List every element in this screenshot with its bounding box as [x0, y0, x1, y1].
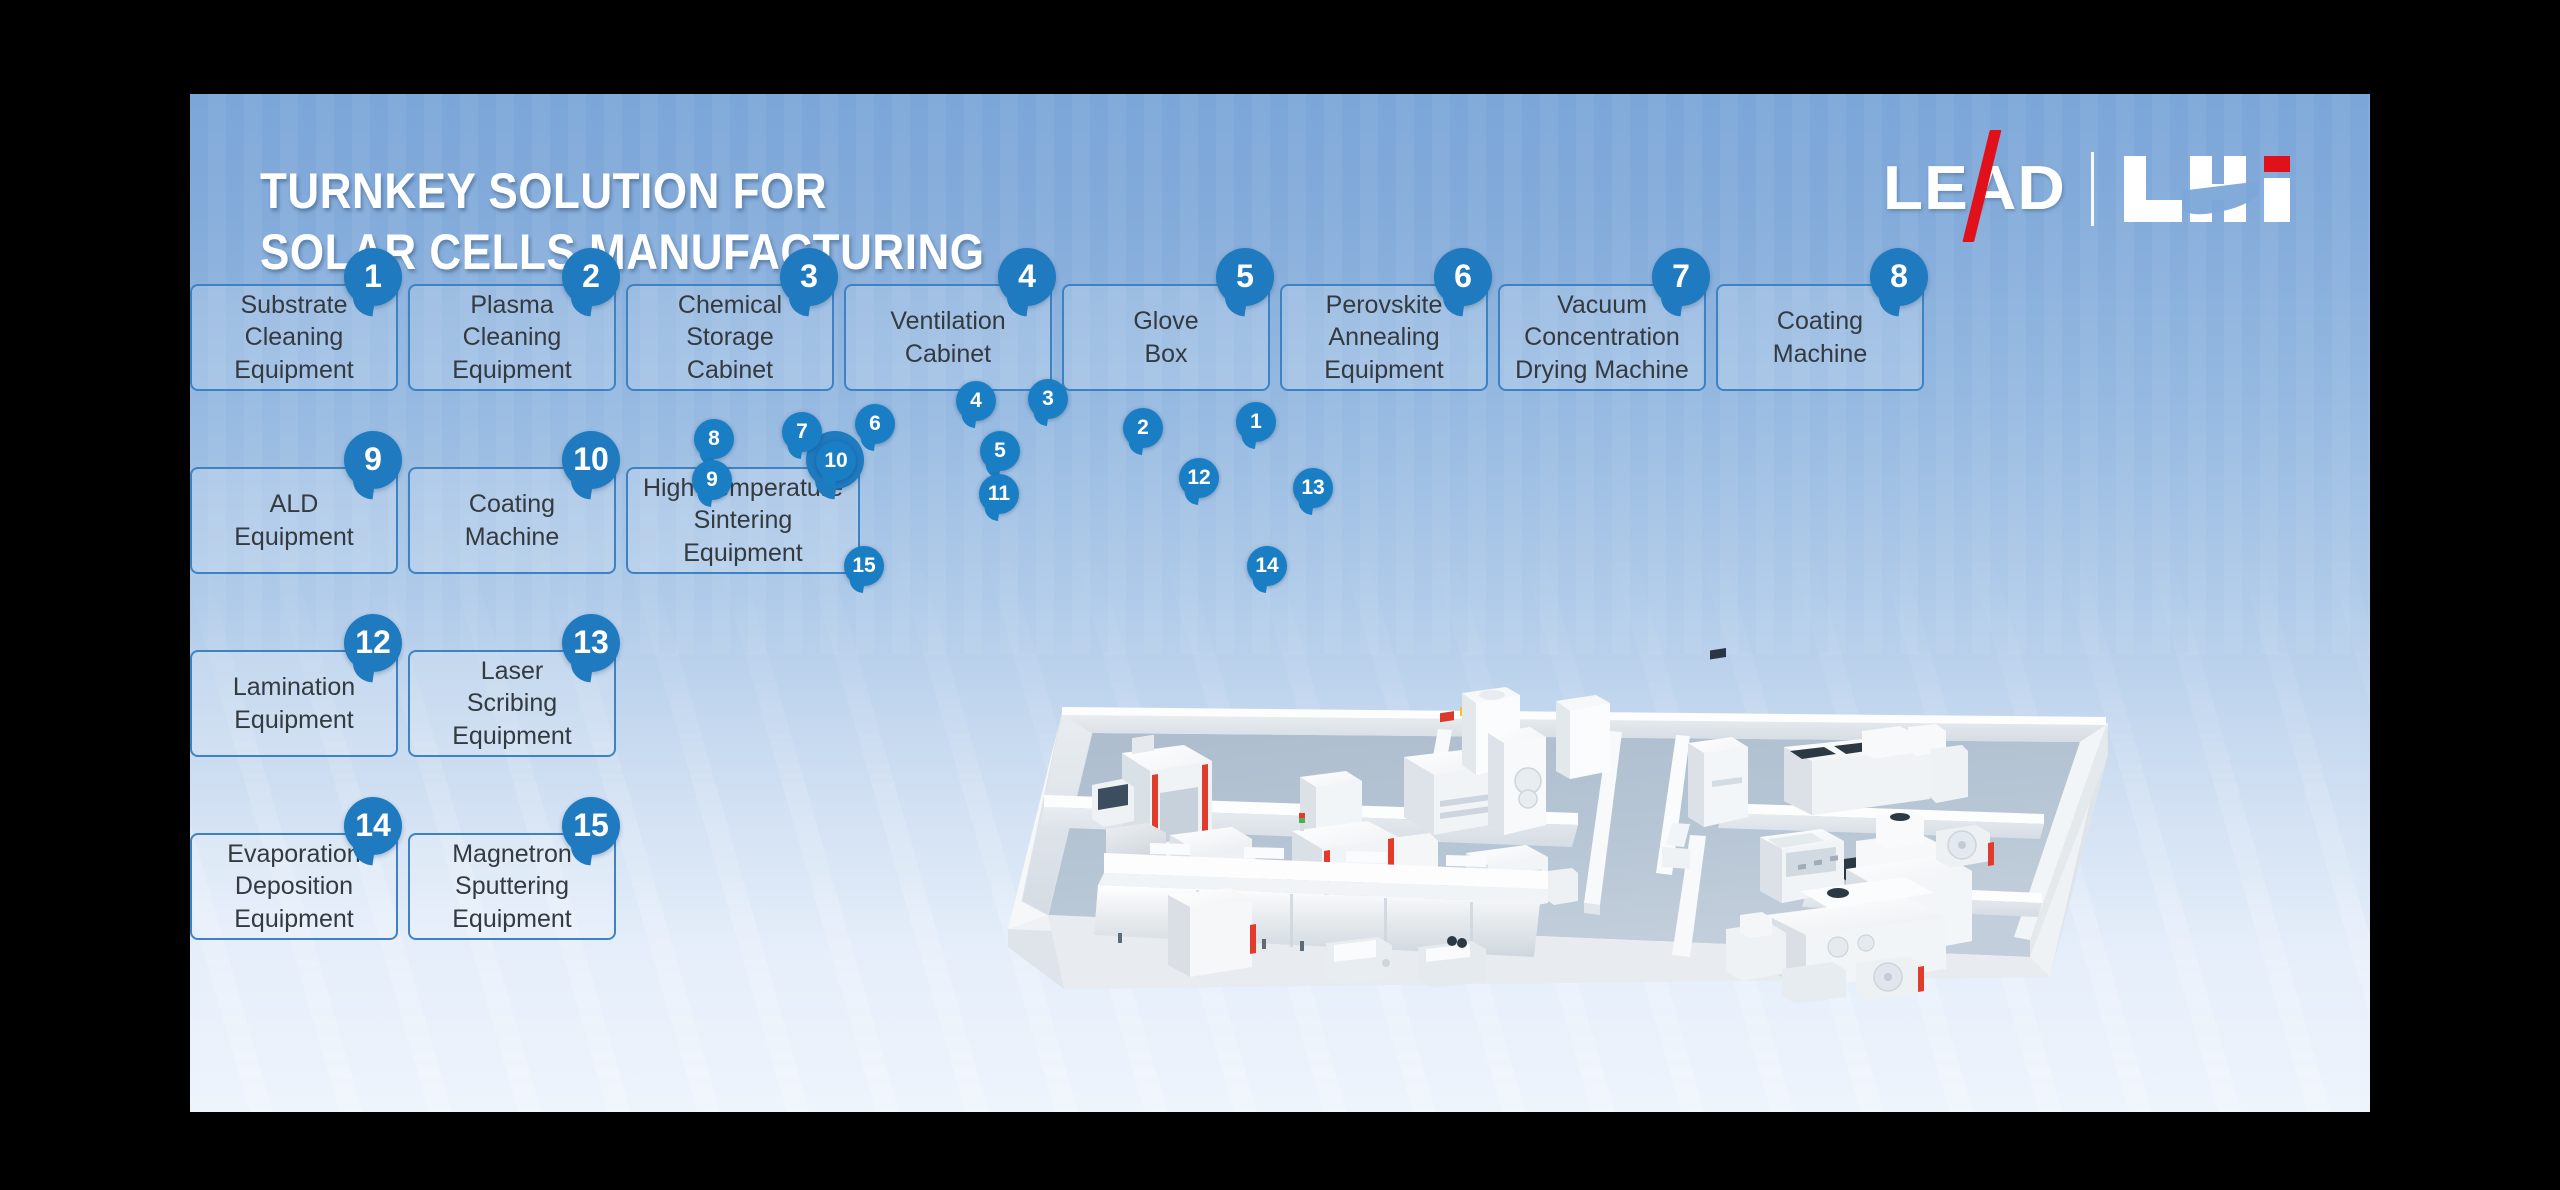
plan-marker-1[interactable]: 1 [1236, 402, 1276, 442]
plan-marker-9[interactable]: 9 [692, 460, 732, 500]
legend-item-5[interactable]: 5 Glove Box [1062, 284, 1270, 391]
legend-label-6: Perovskite Annealing Equipment [1324, 289, 1444, 387]
legend-row-3: 12 Lamination Equipment 13 Laser Scribin… [190, 650, 616, 757]
legend-badge-6: 6 [1434, 248, 1492, 306]
legend-item-12[interactable]: 12 Lamination Equipment [190, 650, 398, 757]
plan-marker-12[interactable]: 12 [1179, 458, 1219, 498]
plan-marker-10[interactable]: 10 [816, 441, 856, 481]
legend-item-1[interactable]: 1 Substrate Cleaning Equipment [190, 284, 398, 391]
legend-item-9[interactable]: 9 ALD Equipment [190, 467, 398, 574]
legend-label-9: ALD Equipment [234, 488, 354, 553]
factory-floor-plan [1000, 585, 2120, 1005]
legend-badge-12: 12 [344, 614, 402, 672]
legend-badge-10: 10 [562, 431, 620, 489]
legend-badge-14: 14 [344, 797, 402, 855]
legend-badge-15: 15 [562, 797, 620, 855]
plan-marker-5[interactable]: 5 [980, 431, 1020, 471]
legend-label-8: Coating Machine [1773, 305, 1868, 370]
legend-label-10: Coating Machine [465, 488, 560, 553]
plan-marker-14[interactable]: 14 [1247, 546, 1287, 586]
legend-item-4[interactable]: 4 Ventilation Cabinet [844, 284, 1052, 391]
legend-badge-1: 1 [344, 248, 402, 306]
plan-marker-6[interactable]: 6 [855, 404, 895, 444]
legend-item-6[interactable]: 6 Perovskite Annealing Equipment [1280, 284, 1488, 391]
plan-marker-13[interactable]: 13 [1293, 468, 1333, 508]
legend-label-1: Substrate Cleaning Equipment [234, 289, 354, 387]
legend-row-1: 1 Substrate Cleaning Equipment 2 Plasma … [190, 284, 1924, 391]
legend-label-2: Plasma Cleaning Equipment [452, 289, 572, 387]
legend-item-13[interactable]: 13 Laser Scribing Equipment [408, 650, 616, 757]
screenshot-stage: TURNKEY SOLUTION FOR SOLAR CELLS MANUFAC… [0, 0, 2560, 1190]
legend-item-8[interactable]: 8 Coating Machine [1716, 284, 1924, 391]
legend-row-4: 14 Evaporation Deposition Equipment 15 M… [190, 833, 616, 940]
plan-marker-11[interactable]: 11 [979, 474, 1019, 514]
legend-badge-13: 13 [562, 614, 620, 672]
legend-label-12: Lamination Equipment [233, 671, 355, 736]
plan-marker-3[interactable]: 3 [1028, 379, 1068, 419]
lhi-bar-2 [2124, 200, 2182, 222]
legend-label-4: Ventilation Cabinet [890, 305, 1005, 370]
legend-badge-3: 3 [780, 248, 838, 306]
lhi-wordmark [2124, 156, 2292, 222]
lhi-red-accent [2264, 156, 2290, 172]
legend-badge-8: 8 [1870, 248, 1928, 306]
legend-row-2: 9 ALD Equipment 10 Coating Machine 11 Hi… [190, 467, 860, 574]
legend-label-11: High-Temperature Sintering Equipment [643, 472, 843, 570]
brand-logo: LEAD [1888, 146, 2292, 232]
logo-divider [2091, 152, 2094, 226]
plan-marker-7[interactable]: 7 [782, 412, 822, 452]
legend-label-13: Laser Scribing Equipment [452, 655, 572, 753]
legend-label-14: Evaporation Deposition Equipment [227, 838, 360, 936]
legend-badge-9: 9 [344, 431, 402, 489]
legend-item-10[interactable]: 10 Coating Machine [408, 467, 616, 574]
plan-marker-2[interactable]: 2 [1123, 408, 1163, 448]
legend-item-7[interactable]: 7 Vacuum Concentration Drying Machine [1498, 284, 1706, 391]
plan-marker-4[interactable]: 4 [956, 381, 996, 421]
floor-plan-svg [1000, 585, 2120, 1005]
legend-badge-2: 2 [562, 248, 620, 306]
lead-wordmark: LEAD [1883, 158, 2066, 220]
legend-item-15[interactable]: 15 Magnetron Sputtering Equipment [408, 833, 616, 940]
lhi-bar-6 [2264, 178, 2290, 222]
legend-badge-7: 7 [1652, 248, 1710, 306]
legend-label-15: Magnetron Sputtering Equipment [452, 838, 572, 936]
plan-marker-15[interactable]: 15 [844, 546, 884, 586]
legend-item-14[interactable]: 14 Evaporation Deposition Equipment [190, 833, 398, 940]
legend-item-3[interactable]: 3 Chemical Storage Cabinet [626, 284, 834, 391]
legend-badge-5: 5 [1216, 248, 1274, 306]
legend-label-3: Chemical Storage Cabinet [678, 289, 782, 387]
legend-item-2[interactable]: 2 Plasma Cleaning Equipment [408, 284, 616, 391]
plan-marker-8[interactable]: 8 [694, 419, 734, 459]
legend-label-5: Glove Box [1133, 305, 1198, 370]
legend-badge-4: 4 [998, 248, 1056, 306]
